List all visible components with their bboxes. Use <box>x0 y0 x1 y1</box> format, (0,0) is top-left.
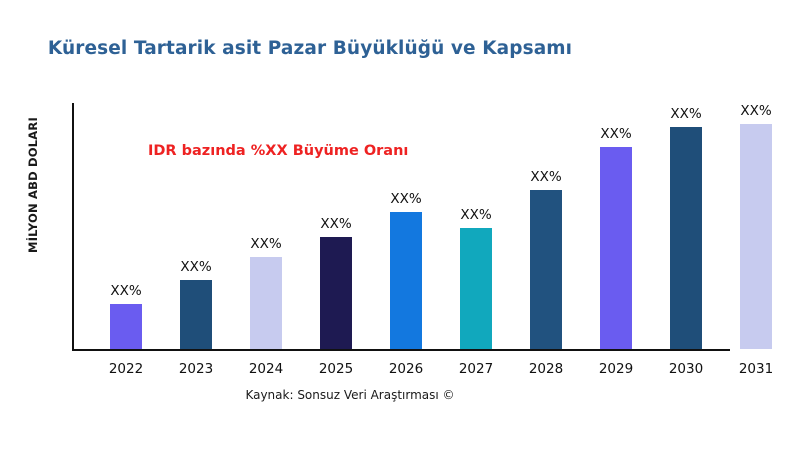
x-tick-2027: 2027 <box>459 361 493 377</box>
bar-2022[interactable]: XX% <box>110 304 142 350</box>
bar-rect-2028 <box>530 190 562 350</box>
bar-value-label-2029: XX% <box>600 126 631 142</box>
page-title: Küresel Tartarik asit Pazar Büyüklüğü ve… <box>0 38 620 59</box>
bar-2023[interactable]: XX% <box>180 280 212 349</box>
bar-rect-2026 <box>390 212 422 350</box>
x-tick-2028: 2028 <box>529 361 563 377</box>
bar-rect-2027 <box>460 228 492 349</box>
bar-value-label-2025: XX% <box>320 216 351 232</box>
y-axis-spine <box>72 103 74 351</box>
bar-rect-2023 <box>180 280 212 349</box>
bar-2030[interactable]: XX% <box>670 127 702 349</box>
chart-figure: Küresel Tartarik asit Pazar Büyüklüğü ve… <box>0 0 800 450</box>
x-tick-2030: 2030 <box>669 361 703 377</box>
x-tick-2031: 2031 <box>739 361 773 377</box>
bar-rect-2031 <box>740 124 772 349</box>
x-tick-2026: 2026 <box>389 361 423 377</box>
bar-rect-2030 <box>670 127 702 349</box>
x-tick-2022: 2022 <box>109 361 143 377</box>
bar-2026[interactable]: XX% <box>390 212 422 350</box>
bar-rect-2022 <box>110 304 142 350</box>
bar-2031[interactable]: XX% <box>740 124 772 349</box>
bar-rect-2025 <box>320 237 352 350</box>
x-tick-2025: 2025 <box>319 361 353 377</box>
bar-value-label-2027: XX% <box>460 207 491 223</box>
bar-2028[interactable]: XX% <box>530 190 562 350</box>
bar-2029[interactable]: XX% <box>600 147 632 349</box>
plot-area: XX%XX%XX%XX%XX%XX%XX%XX%XX%XX% 202220232… <box>72 103 772 351</box>
x-tick-2024: 2024 <box>249 361 283 377</box>
bar-value-label-2022: XX% <box>110 283 141 299</box>
y-axis-label: MİLYON ABD DOLARI <box>26 60 40 310</box>
bar-rect-2024 <box>250 257 282 349</box>
bar-value-label-2028: XX% <box>530 169 561 185</box>
x-tick-2023: 2023 <box>179 361 213 377</box>
bar-rect-2029 <box>600 147 632 349</box>
x-tick-2029: 2029 <box>599 361 633 377</box>
bar-value-label-2031: XX% <box>740 103 771 119</box>
bar-2025[interactable]: XX% <box>320 237 352 350</box>
bar-value-label-2026: XX% <box>390 191 421 207</box>
bar-value-label-2023: XX% <box>180 259 211 275</box>
bar-2027[interactable]: XX% <box>460 228 492 349</box>
x-axis-spine <box>72 349 730 351</box>
bar-value-label-2030: XX% <box>670 106 701 122</box>
bar-2024[interactable]: XX% <box>250 257 282 349</box>
source-caption: Kaynak: Sonsuz Veri Araştırması © <box>0 388 700 402</box>
bar-value-label-2024: XX% <box>250 236 281 252</box>
